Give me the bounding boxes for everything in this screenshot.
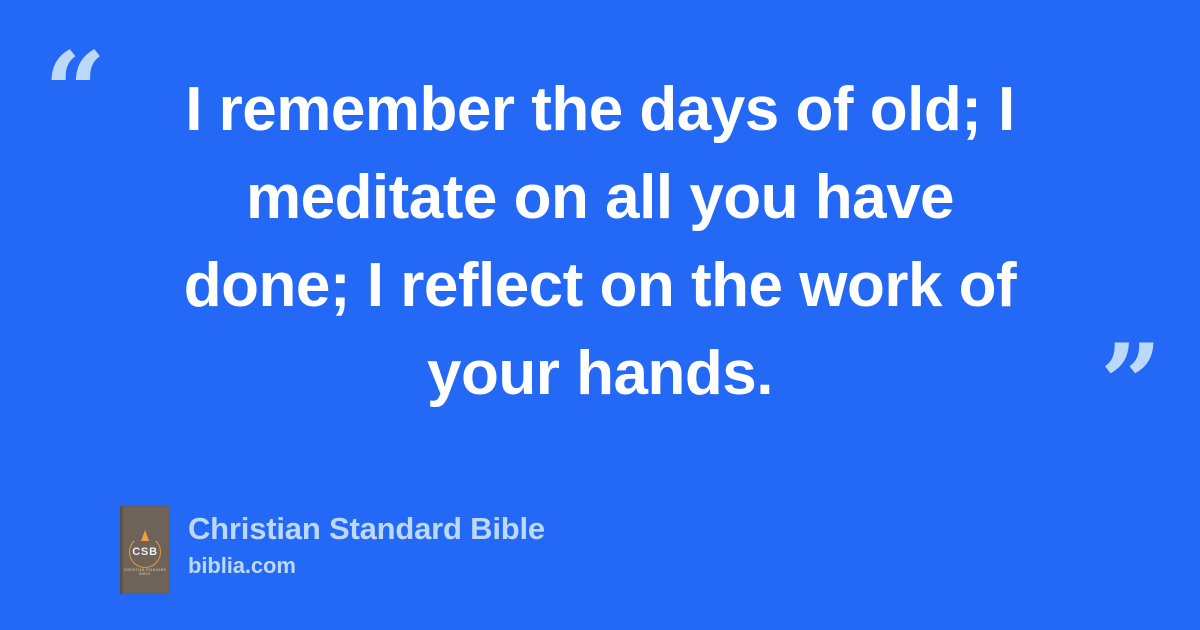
- source-site[interactable]: biblia.com: [188, 551, 545, 581]
- book-emblem-flame-icon: [141, 530, 149, 541]
- quote-line: your hands.: [120, 330, 1080, 418]
- quote-card: “ I remember the days of old; I meditate…: [0, 0, 1200, 630]
- quote-text: I remember the days of old; I meditate o…: [120, 66, 1080, 418]
- attribution: CSB CHRISTIAN STANDARD BIBLE Christian S…: [120, 506, 545, 594]
- book-cover-icon: CSB CHRISTIAN STANDARD BIBLE: [120, 506, 170, 594]
- source-name: Christian Standard Bible: [188, 510, 545, 548]
- closing-quote-mark: ”: [1100, 330, 1160, 438]
- attribution-text: Christian Standard Bible biblia.com: [188, 506, 545, 581]
- book-cover-subtitle: CHRISTIAN STANDARD BIBLE: [120, 568, 170, 576]
- opening-quote-mark: “: [44, 38, 104, 146]
- quote-line: I remember the days of old; I: [120, 66, 1080, 154]
- quote-area: “ I remember the days of old; I meditate…: [0, 0, 1200, 470]
- book-cover-mark: CSB: [120, 546, 170, 558]
- quote-line: done; I reflect on the work of: [120, 242, 1080, 330]
- quote-line: meditate on all you have: [120, 154, 1080, 242]
